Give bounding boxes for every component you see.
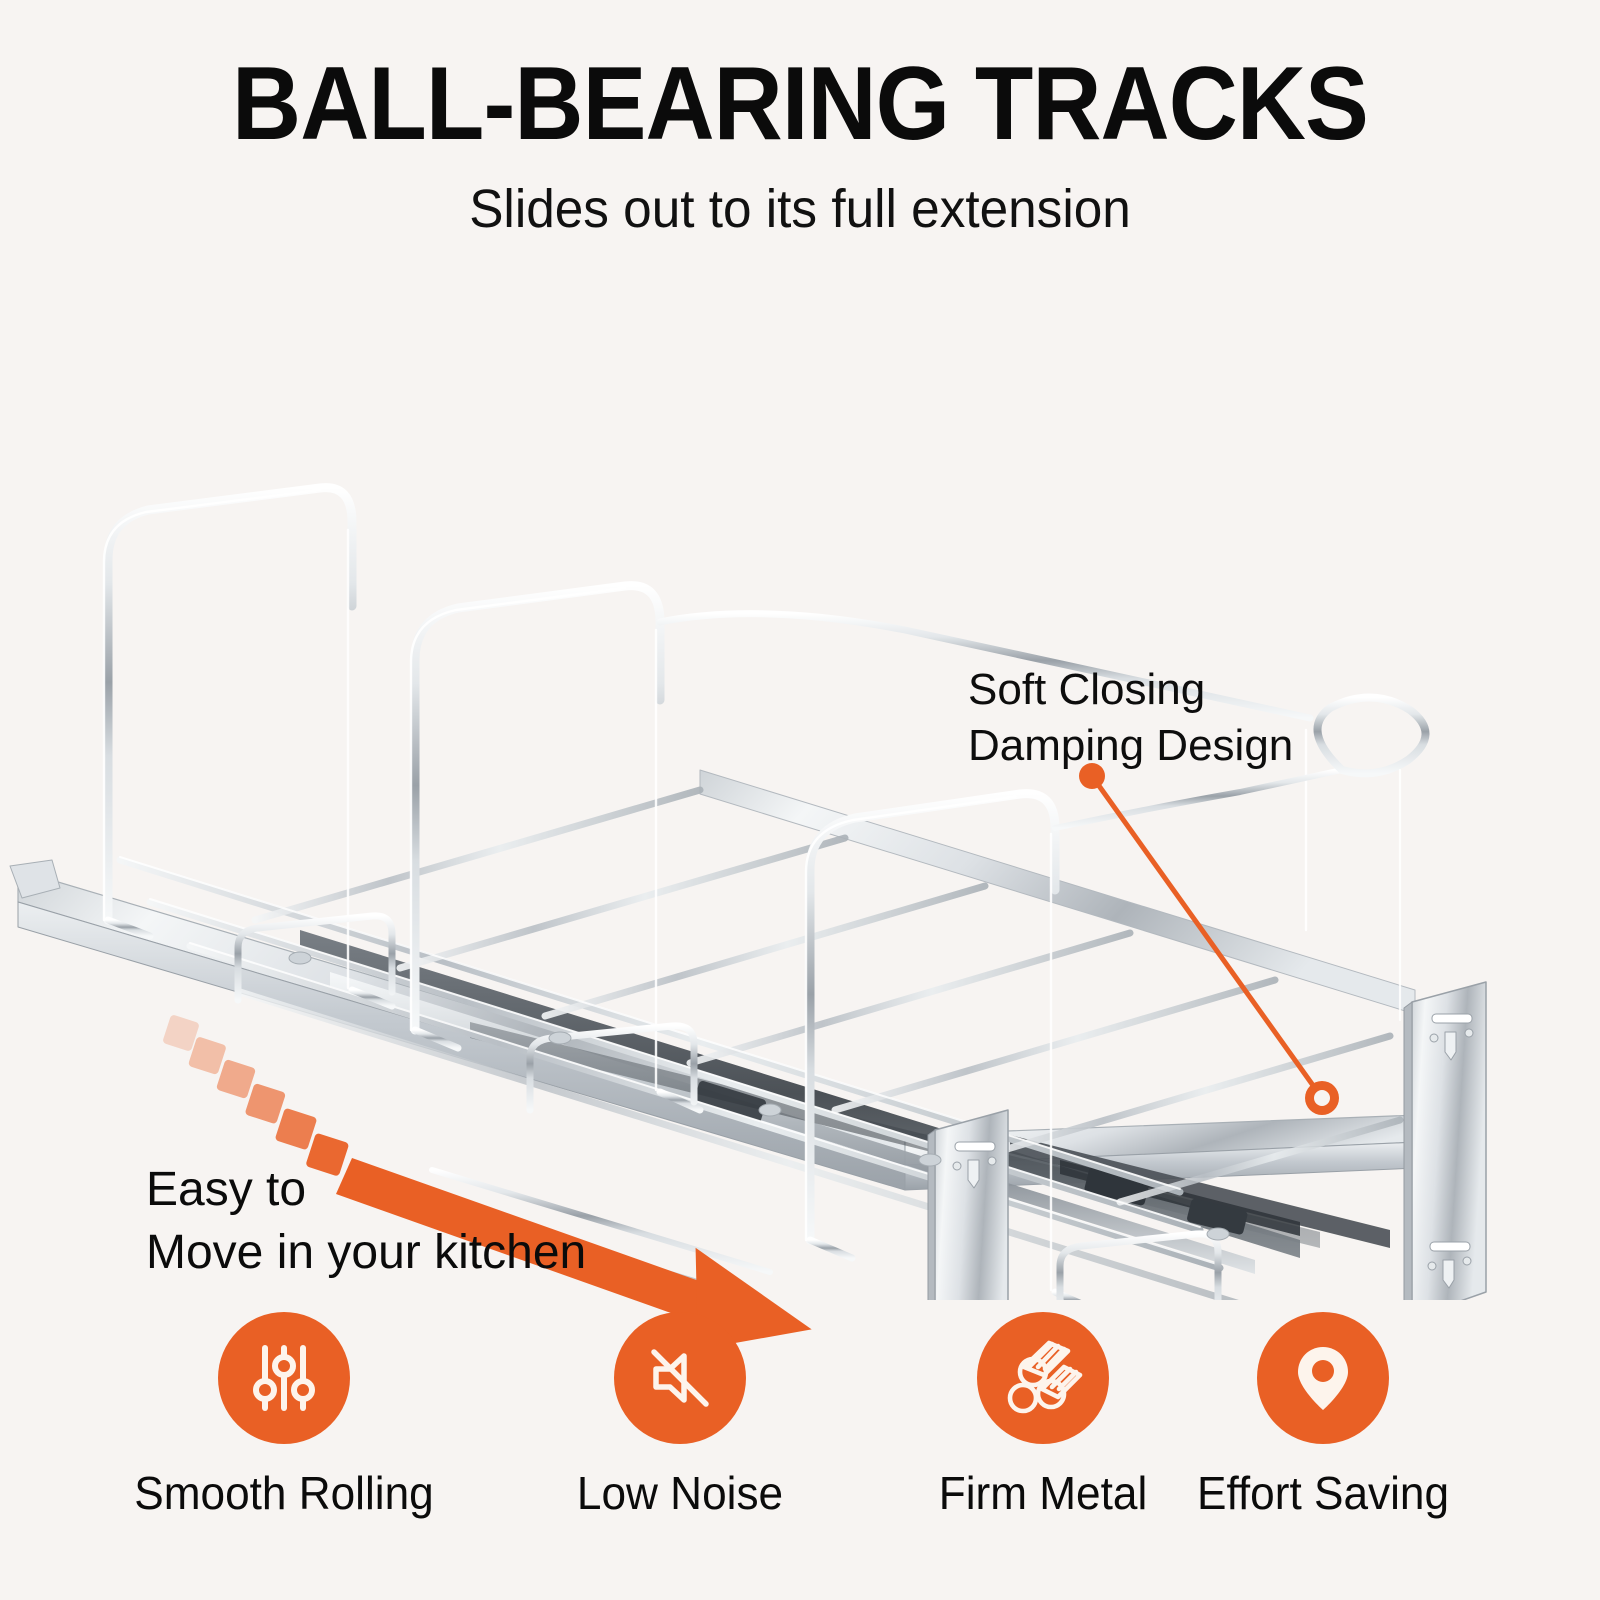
feature-effort-saving: Effort Saving (1153, 1312, 1493, 1520)
mounting-bracket-front (928, 1110, 1008, 1300)
feature-badge (218, 1312, 350, 1444)
feature-label: Effort Saving (1160, 1466, 1486, 1520)
page-title: BALL-BEARING TRACKS (64, 52, 1536, 156)
feature-badge (1257, 1312, 1389, 1444)
infographic-canvas: BALL-BEARING TRACKS Slides out to its fu… (0, 0, 1600, 1600)
callout-soft-closing-line1: Soft Closing (968, 662, 1293, 718)
feature-label: Low Noise (517, 1466, 843, 1520)
feature-strip: Smooth Rolling Low Noise (0, 1312, 1600, 1600)
feature-badge (977, 1312, 1109, 1444)
callout-soft-closing: Soft Closing Damping Design (968, 662, 1293, 775)
feature-smooth-rolling: Smooth Rolling (114, 1312, 454, 1520)
metal-pipes-icon (1002, 1337, 1084, 1419)
callout-soft-closing-line2: Damping Design (968, 718, 1293, 774)
callout-easy-move-line2: Move in your kitchen (146, 1221, 586, 1284)
base-tray (10, 770, 1418, 1190)
feature-badge (614, 1312, 746, 1444)
location-pin-icon (1283, 1338, 1363, 1418)
callout-easy-move-line1: Easy to (146, 1158, 586, 1221)
sliders-icon (244, 1338, 324, 1418)
feature-label: Smooth Rolling (121, 1466, 447, 1520)
mounting-bracket-rear (1404, 982, 1486, 1300)
product-image (0, 230, 1600, 1300)
callout-easy-move: Easy to Move in your kitchen (146, 1158, 586, 1285)
mute-icon (640, 1338, 720, 1418)
feature-low-noise: Low Noise (510, 1312, 850, 1520)
